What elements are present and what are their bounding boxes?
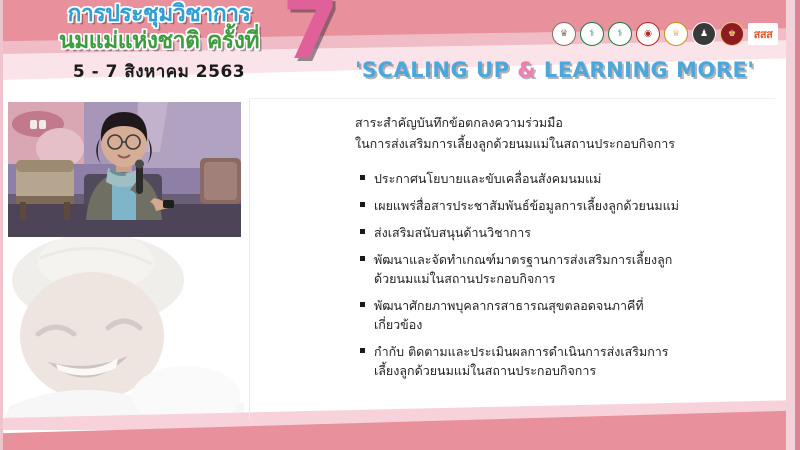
content-heading-line-2: ในการส่งเสริมการเลี้ยงลูกด้วยนมแม่ในสถาน… xyxy=(355,134,675,155)
content-heading: สาระสำคัญบันทึกข้อตกลงความร่วมมือ ในการส… xyxy=(355,113,675,154)
thai-health-foundation-logo: สสส xyxy=(748,23,778,45)
conference-title-line-1: การประชุมวิชาการ xyxy=(14,2,304,27)
tagline-ampersand: & xyxy=(517,58,536,82)
maroon-circle-emblem-logo: ♚ xyxy=(720,22,744,46)
conference-tagline: 'SCALING UP & LEARNING MORE' xyxy=(355,58,754,82)
bullet-item: พัฒนาและจัดทำเกณฑ์มาตรฐานการส่งเสริมการเ… xyxy=(360,250,760,288)
ministry-of-public-health-logo: ⚕ xyxy=(580,22,604,46)
tagline-text-part-1: 'SCALING UP xyxy=(355,58,517,82)
bullet-text-line-1: ส่งเสริมสนับสนุนด้านวิชาการ xyxy=(374,225,531,240)
conference-dates: 5 - 7 สิงหาคม 2563 xyxy=(14,58,304,85)
right-pink-edge-inner xyxy=(795,0,800,450)
bullet-text-line-1: พัฒนาและจัดทำเกณฑ์มาตรฐานการส่งเสริมการเ… xyxy=(374,252,672,267)
bullet-item: ส่งเสริมสนับสนุนด้านวิชาการ xyxy=(360,223,760,242)
department-of-health-logo: ⚕ xyxy=(608,22,632,46)
bullet-text-line-1: พัฒนาศักยภาพบุคลากรสาธารณสุขตลอดจนภาคีที… xyxy=(374,298,644,313)
bullet-text-line-2: เกี่ยวข้อง xyxy=(374,315,760,334)
thai-emblem-red-logo: ◉ xyxy=(636,22,660,46)
black-circle-emblem-logo: ♟ xyxy=(692,22,716,46)
conference-title-block: การประชุมวิชาการ นมแม่แห่งชาติ ครั้งที่ … xyxy=(14,2,304,85)
bullet-text-line-1: ประกาศนโยบายและขับเคลื่อนสังคมนมแม่ xyxy=(374,171,601,186)
content-bullet-list: ประกาศนโยบายและขับเคลื่อนสังคมนมแม่เผยแพ… xyxy=(360,169,760,388)
royal-seal-logo: ♛ xyxy=(552,22,576,46)
tagline-text-part-2: LEARNING MORE' xyxy=(536,58,754,82)
speaker-video-thumbnail[interactable] xyxy=(8,102,241,237)
bullet-text-line-1: กำกับ ติดตามและประเมินผลการดำเนินการส่งเ… xyxy=(374,344,669,359)
presentation-slide: การประชุมวิชาการ นมแม่แห่งชาติ ครั้งที่ … xyxy=(0,0,800,450)
bullet-text-line-2: เลี้ยงลูกด้วยนมแม่ในสถานประกอบกิจการ xyxy=(374,361,760,380)
bullet-text-line-1: เผยแพร่สื่อสารประชาสัมพันธ์ข้อมูลการเลี้… xyxy=(374,198,679,213)
royal-crest-logo: ♕ xyxy=(664,22,688,46)
bullet-item: พัฒนาศักยภาพบุคลากรสาธารณสุขตลอดจนภาคีที… xyxy=(360,296,760,334)
bullet-item: ประกาศนโยบายและขับเคลื่อนสังคมนมแม่ xyxy=(360,169,760,188)
conference-edition-number: 7 xyxy=(282,0,339,72)
bullet-item: เผยแพร่สื่อสารประชาสัมพันธ์ข้อมูลการเลี้… xyxy=(360,196,760,215)
bullet-text-line-2: ด้วยนมแม่ในสถานประกอบกิจการ xyxy=(374,269,760,288)
bullet-item: กำกับ ติดตามและประเมินผลการดำเนินการส่งเ… xyxy=(360,342,760,380)
content-panel: สาระสำคัญบันทึกข้อตกลงความร่วมมือ ในการส… xyxy=(249,98,775,419)
content-heading-line-1: สาระสำคัญบันทึกข้อตกลงความร่วมมือ xyxy=(355,113,675,134)
left-pink-edge xyxy=(0,0,3,450)
partner-logo-strip: ♛⚕⚕◉♕♟♚สสส xyxy=(552,22,778,46)
conference-title-line-2: นมแม่แห่งชาติ ครั้งที่ xyxy=(14,29,304,55)
smiling-child-watermark-photo xyxy=(0,228,250,423)
